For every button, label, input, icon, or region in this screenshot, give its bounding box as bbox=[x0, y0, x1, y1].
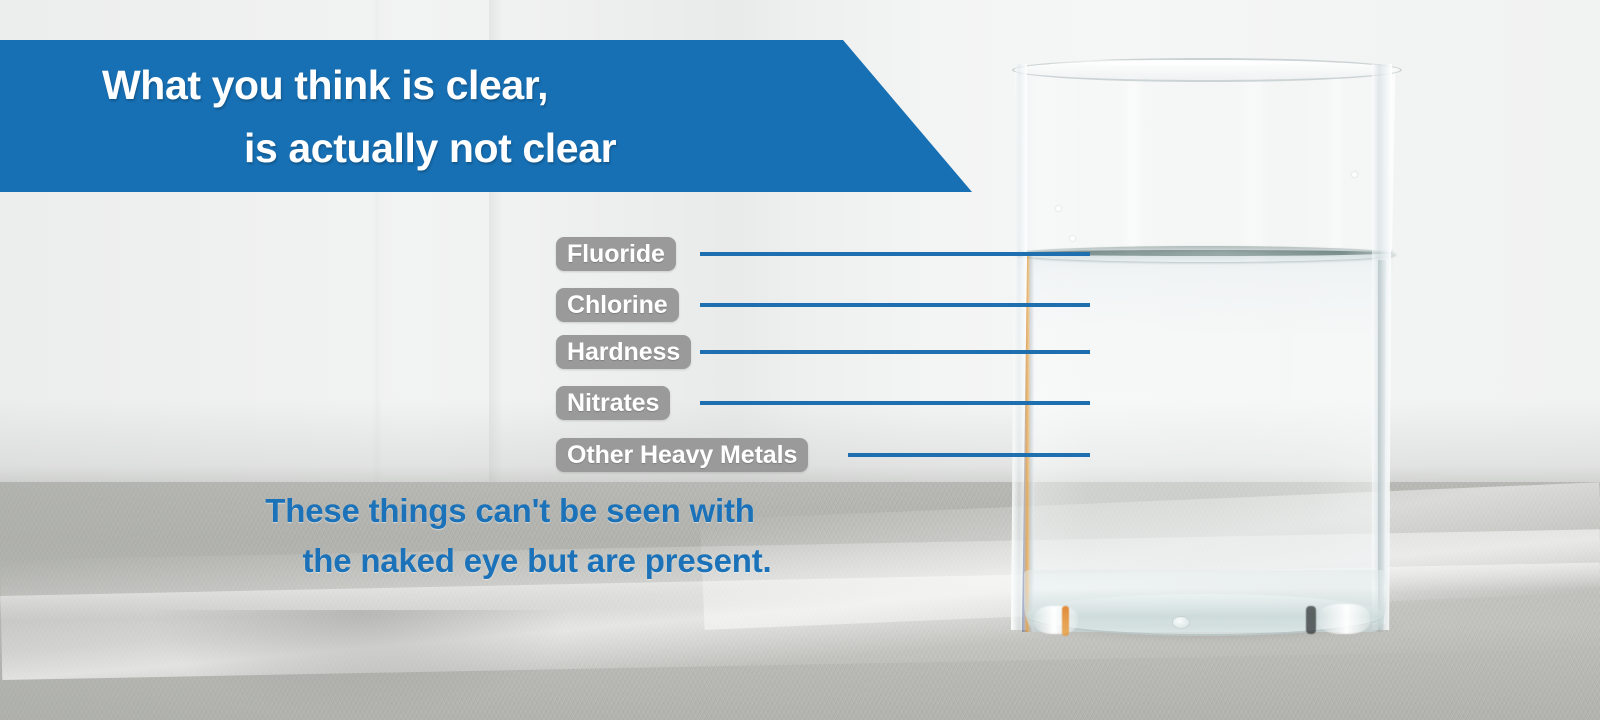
callout-label-fluoride: Fluoride bbox=[567, 237, 665, 271]
leader-line-other-heavy-metals bbox=[848, 453, 1090, 457]
callout-tag-nitrates[interactable]: Nitrates bbox=[556, 386, 670, 420]
bottom-caption: These things can't be seen with the nake… bbox=[140, 486, 880, 586]
leader-line-hardness bbox=[700, 350, 1090, 354]
callout-tag-hardness[interactable]: Hardness bbox=[556, 335, 691, 369]
callout-label-hardness: Hardness bbox=[567, 335, 680, 369]
callout-nitrates[interactable]: Nitrates bbox=[556, 386, 670, 420]
caption-line-2: the naked eye but are present. bbox=[140, 536, 880, 586]
infographic-canvas: What you think is clear, is actually not… bbox=[0, 0, 1600, 720]
leader-line-chlorine bbox=[700, 303, 1090, 307]
callout-label-other-heavy-metals: Other Heavy Metals bbox=[567, 438, 797, 472]
callout-tag-other-heavy-metals[interactable]: Other Heavy Metals bbox=[556, 438, 808, 472]
callout-chlorine[interactable]: Chlorine bbox=[556, 288, 679, 322]
callout-label-chlorine: Chlorine bbox=[567, 288, 668, 322]
callout-label-nitrates: Nitrates bbox=[567, 386, 659, 420]
callout-other-heavy-metals[interactable]: Other Heavy Metals bbox=[556, 438, 808, 472]
callout-tag-fluoride[interactable]: Fluoride bbox=[556, 237, 676, 271]
callout-hardness[interactable]: Hardness bbox=[556, 335, 691, 369]
callout-tag-chlorine[interactable]: Chlorine bbox=[556, 288, 679, 322]
caption-line-1: These things can't be seen with bbox=[140, 486, 880, 536]
callout-fluoride[interactable]: Fluoride bbox=[556, 237, 676, 271]
contaminant-callout-group: Fluoride Chlorine Hardness Nitrates Othe… bbox=[0, 0, 1600, 720]
leader-line-fluoride bbox=[700, 252, 1090, 256]
leader-line-nitrates bbox=[700, 401, 1090, 405]
